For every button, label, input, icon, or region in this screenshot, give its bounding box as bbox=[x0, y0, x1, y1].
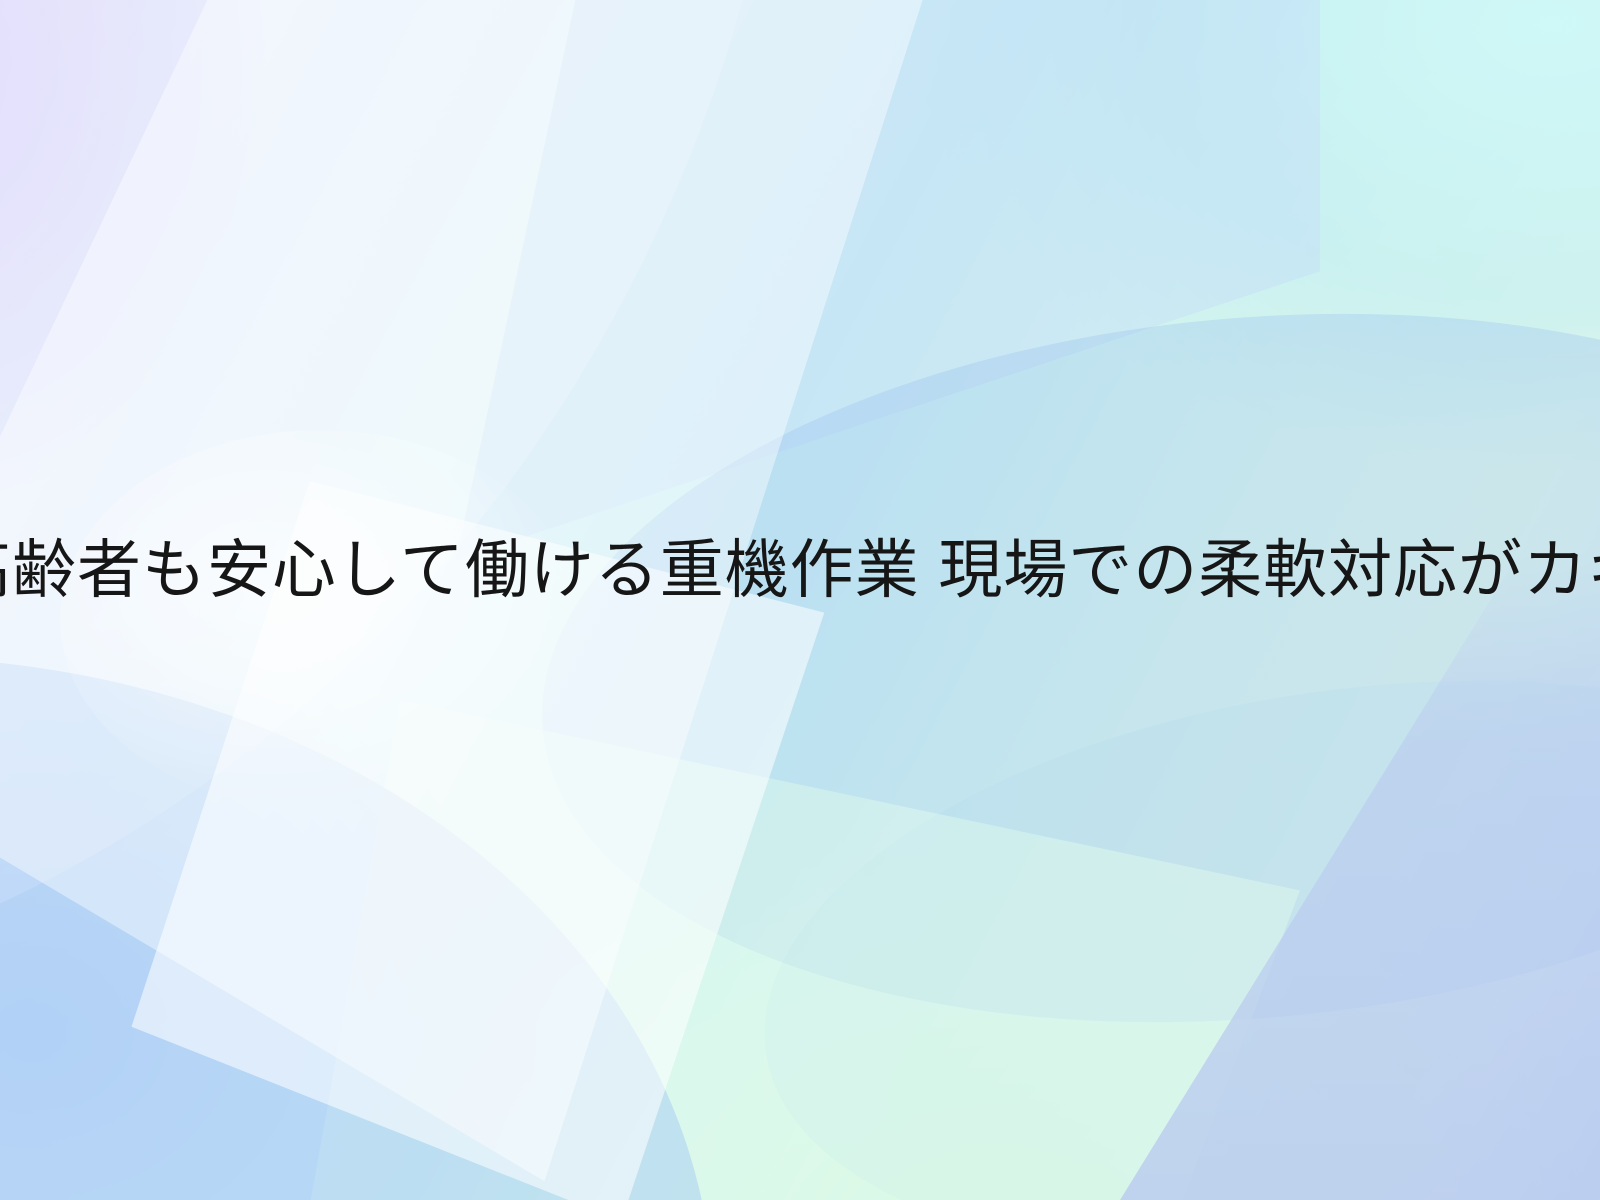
decorative-ellipse-lower bbox=[727, 611, 1600, 1200]
decorative-wedge-mint bbox=[300, 700, 1300, 1200]
decorative-ellipse-right bbox=[512, 257, 1600, 1078]
decorative-petal-blue bbox=[0, 613, 721, 1200]
decorative-polygon-top bbox=[420, 0, 1320, 560]
title-block: 高齢者も安心して働ける重機作業 現場での柔軟対応がカギ bbox=[0, 506, 1600, 636]
title-slide: 高齢者も安心して働ける重機作業 現場での柔軟対応がカギ bbox=[0, 0, 1600, 1200]
slide-title: 高齢者も安心して働ける重機作業 現場での柔軟対応がカギ bbox=[0, 534, 1600, 608]
